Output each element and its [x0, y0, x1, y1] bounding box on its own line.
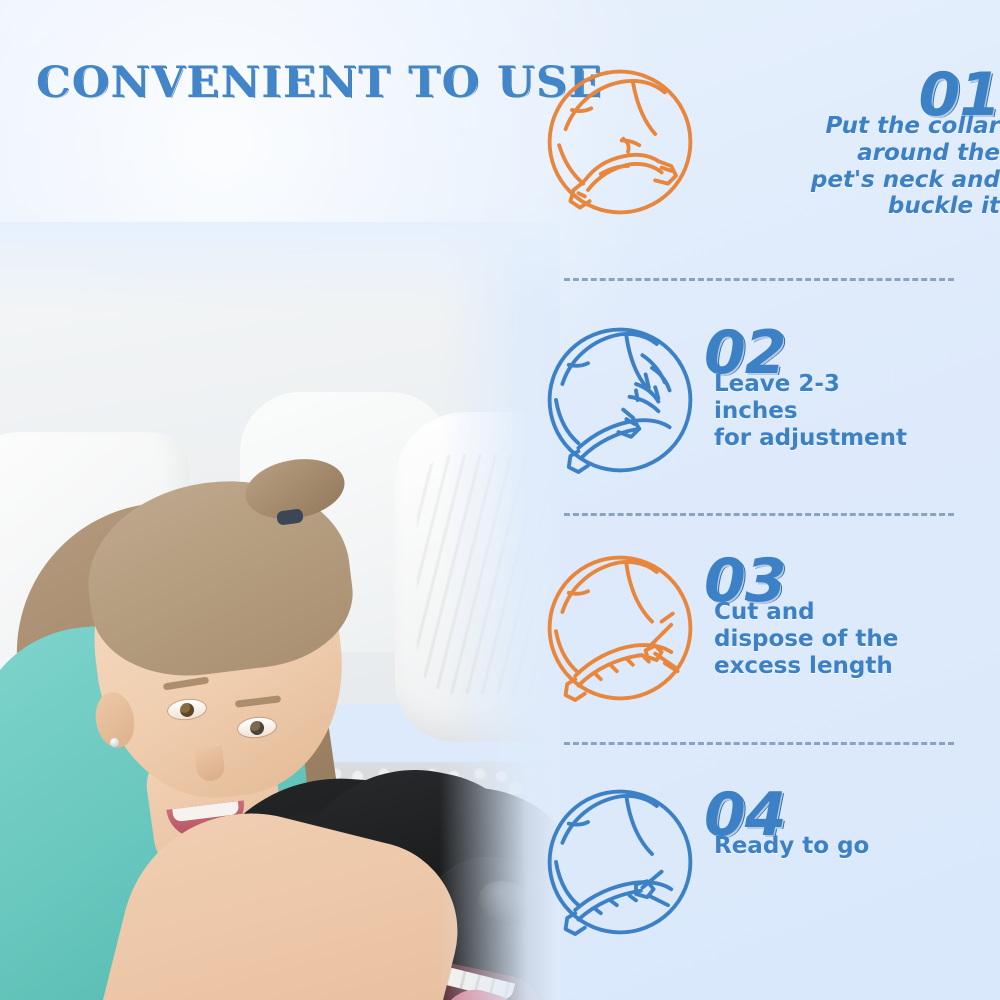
step-text-04: 04 Ready to go [700, 782, 1000, 860]
collar-cut-scissors-icon [540, 548, 700, 708]
collar-buckle-icon [540, 62, 700, 222]
step-description-01: Put the collar around the pet's neck and… [700, 113, 1000, 220]
step-description-03: Cut and dispose of the excess length [700, 599, 1000, 679]
divider-1 [564, 278, 954, 281]
page-title: CONVENIENT TO USE [36, 58, 603, 108]
collar-fitted-icon [540, 782, 700, 942]
step-text-02: 02 Leave 2-3 inches for adjustment [700, 320, 1000, 451]
step-item-01: 01 Put the collar around the pet's neck … [540, 62, 1000, 222]
step-line: inches [714, 398, 1000, 425]
divider-2 [564, 513, 954, 516]
divider-3 [564, 742, 954, 745]
collar-measure-hand-icon [540, 320, 700, 480]
step-line: around the [700, 140, 1000, 167]
step-text-03: 03 Cut and dispose of the excess length [700, 548, 1000, 679]
step-line: Leave 2-3 [714, 371, 1000, 398]
girl-earring [110, 738, 119, 747]
photo-scene [0, 222, 560, 1000]
step-description-04: Ready to go [700, 833, 1000, 860]
step-line: pet's neck and [700, 167, 1000, 194]
step-line: Cut and [714, 599, 1000, 626]
step-line: excess length [714, 653, 1000, 680]
hero-photo-girl-with-dog [0, 222, 560, 1000]
step-line: Put the collar [700, 113, 1000, 140]
step-text-01: 01 Put the collar around the pet's neck … [700, 62, 1000, 220]
step-line: dispose of the [714, 626, 1000, 653]
step-description-02: Leave 2-3 inches for adjustment [700, 371, 1000, 451]
step-line: Ready to go [714, 833, 1000, 860]
step-item-03: 03 Cut and dispose of the excess length [540, 548, 1000, 708]
step-item-04: 04 Ready to go [540, 782, 1000, 942]
photo-top-fade [0, 222, 560, 312]
step-item-02: 02 Leave 2-3 inches for adjustment [540, 320, 1000, 480]
step-line: for adjustment [714, 425, 1000, 452]
step-line: buckle it [700, 193, 1000, 220]
steps-list: 01 Put the collar around the pet's neck … [540, 0, 1000, 1000]
infographic-page: CONVENIENT TO USE [0, 0, 1000, 1000]
